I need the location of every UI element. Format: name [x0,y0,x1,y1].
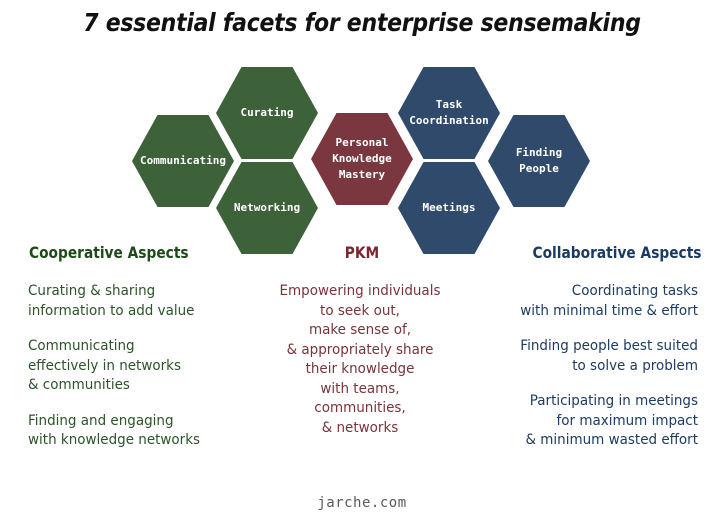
list-item: Communicating effectively in networks & … [28,337,261,396]
infographic-page: 7 essential facets for enterprise sensem… [0,0,724,524]
column-heading-collaborative: Collaborative Aspects [532,243,701,262]
list-item: Curating & sharing information to add va… [28,282,261,321]
hexagon-label: Meetings [423,200,476,216]
hexagon-label: Task Coordination [409,97,488,129]
hexagon-label: Finding People [516,145,562,177]
hexagon-label: Networking [234,200,300,216]
column-body-pkm: Empowering individuals to seek out, make… [248,282,471,439]
hexagon-cluster: Communicating Curating Networking Person… [0,52,724,244]
hexagon-networking[interactable]: Networking [216,162,318,254]
hexagon-label: Personal Knowledge Mastery [332,135,392,183]
column-body-cooperative: Curating & sharing information to add va… [28,282,261,451]
list-item: Participating in meetings for maximum im… [456,392,698,451]
list-item: Finding people best suited to solve a pr… [456,337,698,376]
list-item: Empowering individuals to seek out, make… [248,282,471,439]
hexagon-label: Curating [241,105,294,121]
hexagon-curating[interactable]: Curating [216,67,318,159]
column-body-collaborative: Coordinating tasks with minimal time & e… [456,282,698,451]
hexagon-label: Communicating [140,153,226,169]
hexagon-meetings[interactable]: Meetings [398,162,500,254]
footer-attribution: jarche.com [0,495,724,511]
hexagon-task-coordination[interactable]: Task Coordination [398,67,500,159]
list-item: Finding and engaging with knowledge netw… [28,412,261,451]
page-title: 7 essential facets for enterprise sensem… [43,8,680,37]
hexagon-personal-knowledge-mastery[interactable]: Personal Knowledge Mastery [311,113,413,205]
list-item: Coordinating tasks with minimal time & e… [456,282,698,321]
hexagon-finding-people[interactable]: Finding People [488,115,590,207]
hexagon-communicating[interactable]: Communicating [132,115,234,207]
